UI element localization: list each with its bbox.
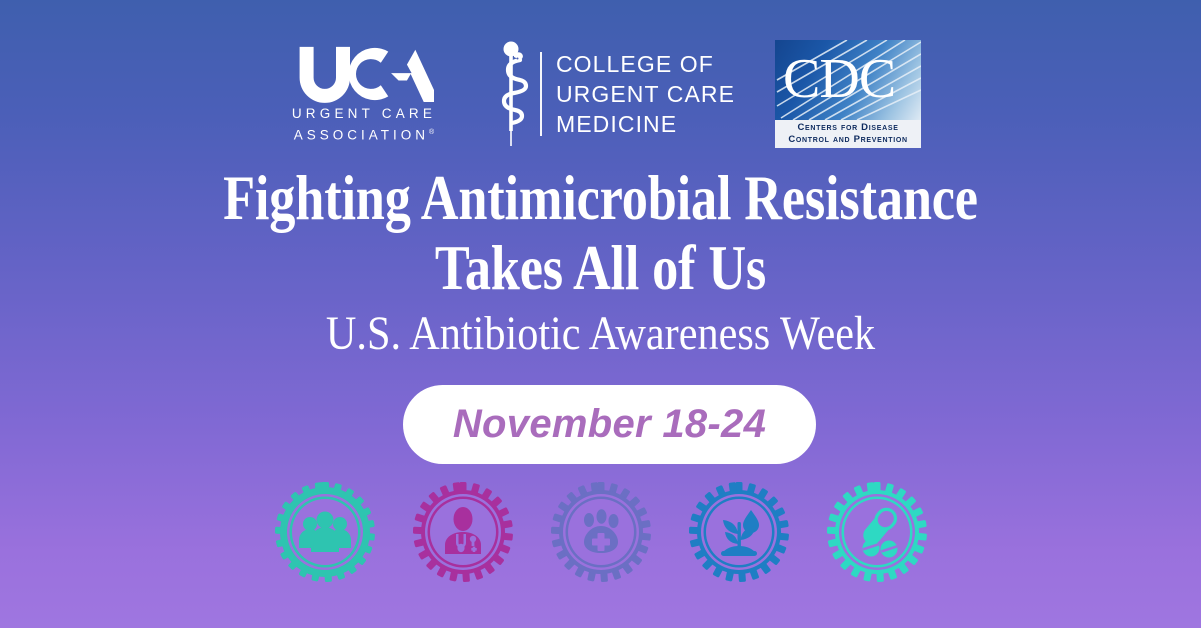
- people-group-gear-icon: [275, 482, 375, 582]
- date-pill-label: November 18-24: [453, 402, 766, 447]
- cucm-line2: URGENT CARE: [556, 79, 735, 109]
- icon-row: [0, 478, 1201, 586]
- subheadline: U.S. Antibiotic Awareness Week: [72, 307, 1129, 361]
- cucm-line3: MEDICINE: [556, 109, 735, 139]
- cdc-tagline: Centers for Disease Control and Preventi…: [775, 120, 921, 148]
- rod-of-asclepius-icon: [490, 40, 536, 148]
- headline-line1: Fighting Antimicrobial Resistance: [102, 163, 1099, 233]
- college-of-urgent-care-medicine-logo: COLLEGE OF URGENT CARE MEDICINE: [490, 40, 735, 148]
- plant-water-drop-gear-icon: [689, 482, 789, 582]
- logo-divider: [540, 52, 542, 136]
- cdc-tagline-line2: Control and Prevention: [775, 134, 921, 146]
- logo-row: URGENT CARE ASSOCIATION® COLLEGE OF URGE…: [0, 34, 1201, 154]
- cdc-logo: CDC Centers for Disease Control and Prev…: [775, 40, 921, 148]
- cdc-logo-box: CDC: [775, 40, 921, 120]
- uca-wordmark-icon: [294, 44, 434, 104]
- uca-tagline-line1: URGENT CARE: [292, 104, 436, 123]
- uca-logo: URGENT CARE ASSOCIATION®: [280, 44, 448, 145]
- date-pill: November 18-24: [403, 385, 816, 464]
- pills-gear-icon: [827, 482, 927, 582]
- headline: Fighting Antimicrobial Resistance Takes …: [102, 163, 1099, 303]
- cdc-tagline-line1: Centers for Disease: [775, 122, 921, 134]
- uca-tagline-line2: ASSOCIATION®: [294, 123, 434, 145]
- antibiotic-awareness-week-banner: URGENT CARE ASSOCIATION® COLLEGE OF URGE…: [0, 0, 1201, 628]
- cdc-wordmark: CDC: [783, 42, 895, 116]
- headline-line2: Takes All of Us: [102, 233, 1099, 303]
- paw-print-gear-icon: [551, 482, 651, 582]
- doctor-gear-icon: [413, 482, 513, 582]
- cucm-line1: COLLEGE OF: [556, 49, 735, 79]
